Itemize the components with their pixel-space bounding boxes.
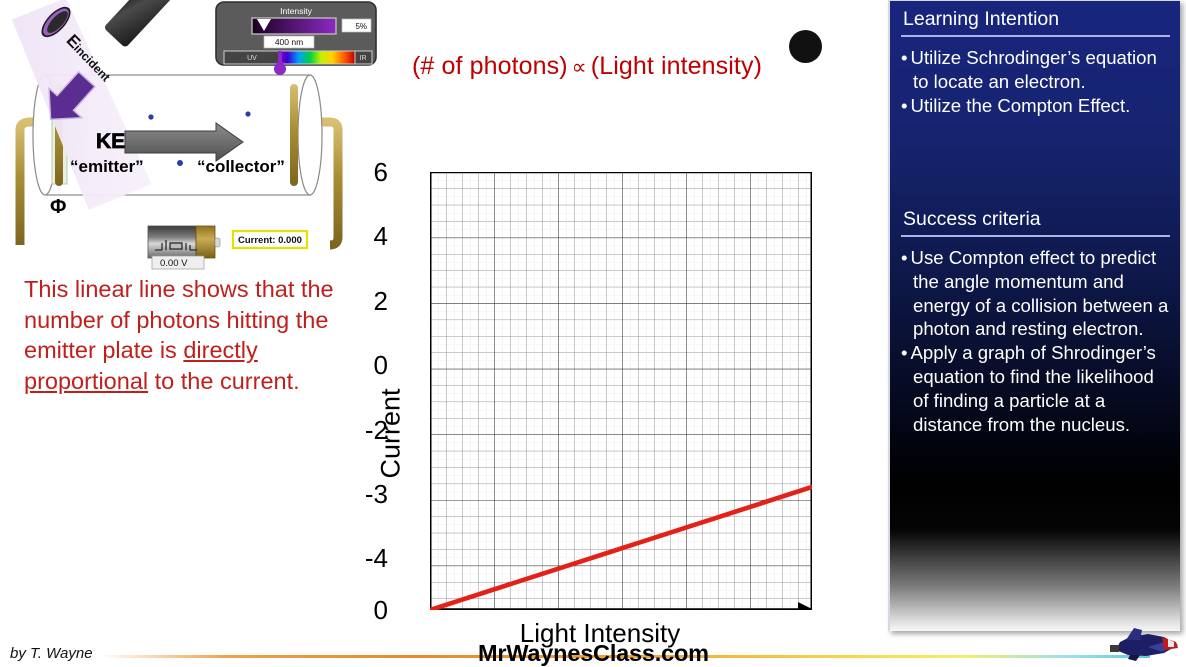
y-tick-label-6: -4 — [348, 545, 388, 571]
intensity-percent-text: 5% — [355, 22, 367, 31]
ke-label-text: KE — [96, 130, 125, 153]
y-tick-label-7: 0 — [348, 597, 388, 623]
learning-intention-title: Learning Intention — [890, 1, 1180, 35]
explanation-paragraph: This linear line shows that the number o… — [24, 274, 364, 396]
learning-intention-item-1: Utilize the Compton Effect. — [901, 94, 1172, 118]
success-criteria-item-1: Apply a graph of Shrodinger’s equation t… — [901, 341, 1172, 436]
spectrum-ir-label: IR — [360, 55, 367, 62]
photoelectric-apparatus-diagram: E incident KE “emitter” “collector” Φ — [0, 0, 390, 275]
apparatus-svg: E incident KE “emitter” “collector” Φ — [0, 0, 390, 275]
work-function-label: Φ — [50, 196, 66, 218]
intensity-panel-title: Intensity — [280, 6, 312, 16]
author-byline: by T. Wayne — [10, 645, 93, 662]
electron-dot — [148, 114, 153, 119]
paragraph-line-5: current. — [220, 368, 300, 394]
spectrum-uv-label: UV — [247, 55, 257, 62]
paragraph-line-1: This linear line shows that — [24, 276, 294, 302]
plot-area — [430, 172, 812, 610]
page-title: (# of photons)∝(Light intensity) — [412, 52, 762, 81]
y-tick-label-1: 4 — [348, 223, 388, 249]
y-tick-label-4: -2 — [348, 417, 388, 443]
voltage-readout-text: 0.00 V — [160, 258, 188, 269]
learning-intention-item-0: Utilize Schrodinger’s equation to locate… — [901, 46, 1172, 94]
title-left: (# of photons) — [412, 52, 568, 80]
collector-label-text: “collector” — [197, 157, 285, 176]
black-dot-decoration — [789, 30, 822, 63]
site-brand: MrWaynesClass.com — [478, 640, 709, 667]
collector-rod — [290, 84, 298, 186]
paragraph-line-4-tail: to the — [148, 368, 213, 394]
spectrum-bar — [280, 51, 355, 64]
jet-rocket-icon — [1090, 628, 1184, 664]
y-tick-label-3: 0 — [348, 352, 388, 378]
success-criteria-list: Use Compton effect to predict the angle … — [890, 246, 1180, 436]
learning-intention-divider — [901, 35, 1170, 37]
y-tick-label-0: 6 — [348, 159, 388, 185]
proportional-symbol: ∝ — [568, 56, 591, 79]
intensity-control-panel: Intensity 5% 400 nm UV IR — [216, 2, 376, 75]
electron-dot — [245, 111, 250, 116]
objectives-panel: Learning Intention Utilize Schrodinger’s… — [888, 0, 1180, 631]
success-criteria-title: Success criteria — [890, 201, 1180, 235]
battery: 0.00 V — [148, 226, 220, 269]
y-tick-label-2: 2 — [348, 288, 388, 314]
success-criteria-item-0: Use Compton effect to predict the angle … — [901, 246, 1172, 341]
y-tick-label-5: -3 — [348, 481, 388, 507]
current-readout: Current: 0.000 — [233, 231, 307, 248]
learning-intention-list: Utilize Schrodinger’s equation to locate… — [890, 46, 1180, 117]
current-readout-text: Current: 0.000 — [238, 235, 302, 246]
electron-dot — [177, 160, 183, 166]
wavelength-text: 400 nm — [275, 37, 303, 47]
success-criteria-section: Success criteria Use Compton effect to p… — [890, 201, 1180, 436]
emitter-label-text: “emitter” — [70, 157, 144, 176]
title-right: (Light intensity) — [591, 52, 762, 80]
success-criteria-divider — [901, 235, 1170, 237]
current-vs-intensity-chart: Current Light Intensity — [370, 150, 830, 650]
